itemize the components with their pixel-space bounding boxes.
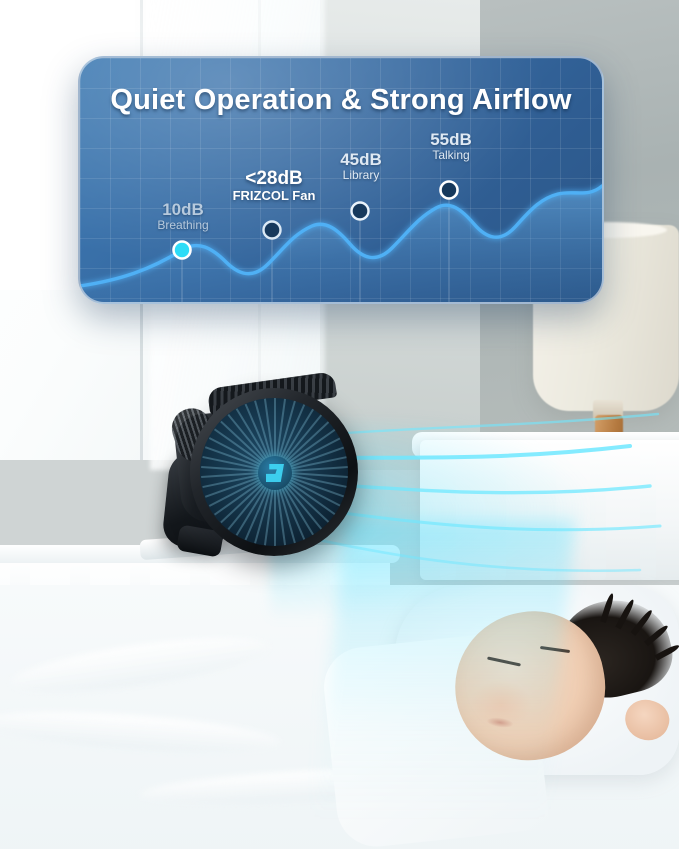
chart-label-frizcol-fan: <28dB FRIZCOL Fan bbox=[218, 168, 330, 204]
noise-comparison-panel: Quiet Operation & Strong Airflow bbox=[78, 56, 604, 304]
chart-label-library: 45dB Library bbox=[318, 150, 404, 182]
chart-marker-breathing bbox=[174, 242, 191, 259]
clip-on-fan-product bbox=[160, 378, 390, 568]
chart-label-talking: 55dB Talking bbox=[408, 130, 494, 162]
chart-label-library-value: 45dB bbox=[318, 150, 404, 169]
crib-far-rail bbox=[420, 440, 679, 580]
chart-label-talking-value: 55dB bbox=[408, 130, 494, 149]
chart-label-frizcol-fan-name: FRIZCOL Fan bbox=[218, 189, 330, 204]
chart-label-breathing-name: Breathing bbox=[136, 219, 230, 232]
chart-label-frizcol-fan-value: <28dB bbox=[218, 168, 330, 189]
chart-label-library-name: Library bbox=[318, 169, 404, 182]
chart-marker-library bbox=[352, 203, 369, 220]
chart-marker-frizcol-fan bbox=[264, 222, 281, 239]
fan-hub bbox=[258, 456, 292, 490]
chart-label-breathing: 10dB Breathing bbox=[136, 200, 230, 232]
product-marketing-image: Quiet Operation & Strong Airflow bbox=[0, 0, 679, 849]
chart-label-breathing-value: 10dB bbox=[136, 200, 230, 219]
chart-marker-talking bbox=[441, 182, 458, 199]
chart-label-talking-name: Talking bbox=[408, 149, 494, 162]
